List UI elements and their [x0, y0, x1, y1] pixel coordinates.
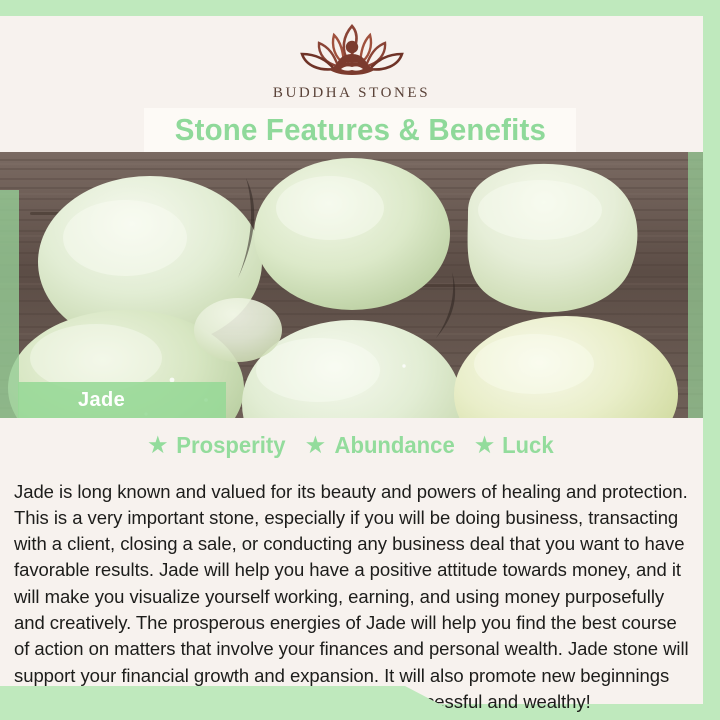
benefit-label: Abundance: [334, 432, 454, 459]
page-title: Stone Features & Benefits: [174, 112, 545, 148]
benefit-item-abundance: ★ Abundance: [306, 432, 457, 459]
title-banner: Stone Features & Benefits: [144, 108, 576, 152]
lotus-meditating-figure-icon: [286, 21, 418, 83]
photo-edge-accent-left: [0, 190, 19, 418]
stone-name: Jade: [78, 389, 125, 412]
star-icon: ★: [475, 435, 494, 456]
stone-description: Jade is long known and valued for its be…: [14, 479, 689, 716]
star-icon: ★: [148, 435, 167, 456]
brand-name: BUDDHA STONES: [273, 85, 430, 102]
benefits-row: ★ Prosperity ★ Abundance ★ Luck: [0, 428, 703, 462]
stone-name-band: Jade: [18, 382, 226, 418]
benefit-label: Luck: [502, 432, 554, 459]
benefit-label: Prosperity: [177, 432, 286, 459]
infographic-card: BUDDHA STONES Stone Features & Benefits: [0, 0, 720, 720]
star-icon: ★: [306, 435, 325, 456]
brand-header: BUDDHA STONES: [0, 16, 703, 106]
stone-photo: [0, 152, 703, 418]
benefit-item-prosperity: ★ Prosperity: [148, 432, 288, 459]
photo-edge-accent-right: [688, 152, 703, 418]
benefit-item-luck: ★ Luck: [475, 432, 555, 459]
bottom-green-accent: [0, 686, 470, 720]
